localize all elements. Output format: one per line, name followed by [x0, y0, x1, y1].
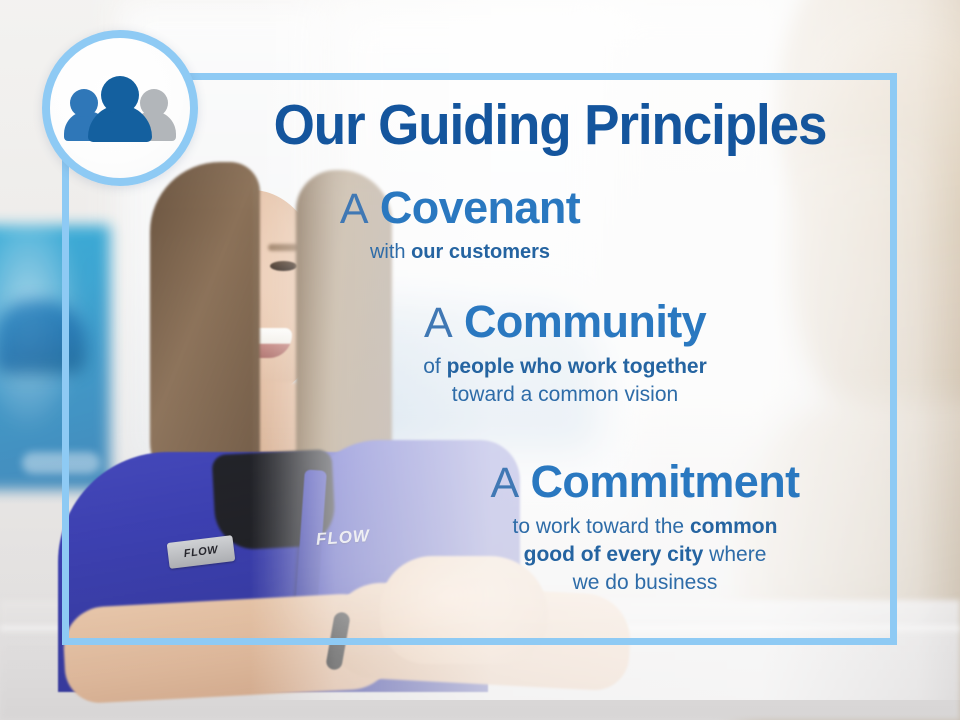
principle-commitment-subtitle-bold-2: good of every city: [524, 543, 704, 566]
people-group-icon: [68, 75, 172, 141]
principle-commitment-subtitle-plain-1: to work toward the: [513, 515, 690, 538]
principle-community-word: Community: [464, 296, 706, 347]
principle-community-subtitle-bold-1: people who work together: [447, 355, 707, 378]
principle-covenant-subtitle-bold-1: our customers: [411, 241, 550, 263]
principle-covenant-word: Covenant: [380, 182, 580, 233]
employee-name-badge-text: FLOW: [183, 544, 219, 560]
poster-graphic: FLOW FLOW Our Guiding Principles A Coven: [0, 0, 960, 720]
principle-community-subtitle: of people who work together toward a com…: [330, 353, 800, 409]
principle-commitment-heading: A Commitment: [400, 458, 890, 507]
principle-community-subtitle-plain-1: of: [423, 355, 446, 378]
display-poster-logo: [22, 452, 100, 474]
principle-community: A Community of people who work together …: [330, 298, 800, 409]
principle-covenant-article: A: [340, 185, 368, 233]
shirt-flow-logo-text: FLOW: [315, 526, 370, 550]
page-title: Our Guiding Principles: [234, 96, 866, 154]
principle-commitment-article: A: [490, 459, 518, 507]
principle-commitment-word: Commitment: [530, 456, 799, 507]
person-icon-left-head: [70, 89, 98, 117]
principle-covenant-subtitle-plain-1: with: [370, 241, 411, 263]
principle-community-subtitle-plain-2: toward a common vision: [452, 383, 678, 406]
principle-commitment-subtitle-bold-1: common: [690, 515, 778, 538]
person-icon-right-head: [140, 89, 168, 117]
principle-commitment-subtitle-plain-3: we do business: [573, 571, 718, 594]
display-poster-car: [0, 300, 86, 374]
principle-commitment: A Commitment to work toward the common g…: [400, 458, 890, 597]
principle-commitment-subtitle: to work toward the common good of every …: [400, 513, 890, 597]
principle-covenant-subtitle: with our customers: [240, 239, 680, 266]
principle-community-article: A: [424, 299, 452, 347]
person-icon-center-head: [101, 76, 139, 114]
principle-commitment-subtitle-plain-2: where: [703, 543, 766, 566]
principle-community-heading: A Community: [330, 298, 800, 347]
principle-covenant-heading: A Covenant: [240, 184, 680, 233]
people-group-badge: [42, 30, 198, 186]
principle-covenant: A Covenant with our customers: [240, 184, 680, 265]
